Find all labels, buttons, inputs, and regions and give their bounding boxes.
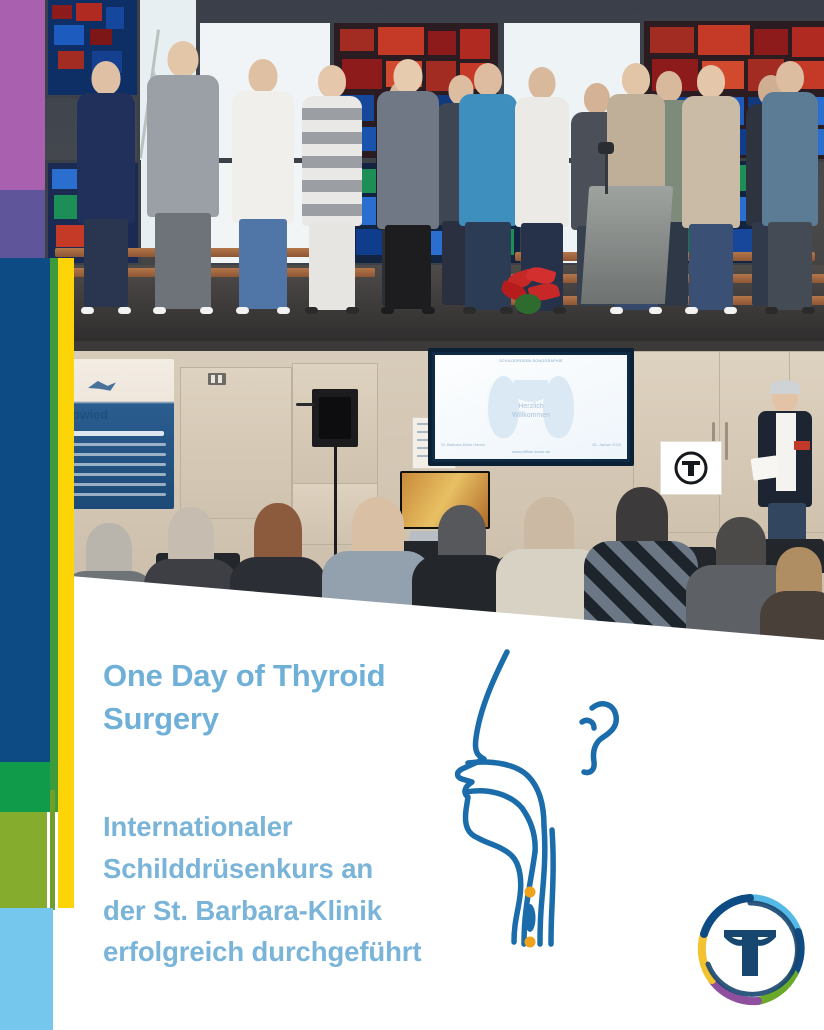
slide-footer-url: www.pfiffner-kurse.de <box>435 449 627 454</box>
banner-bulletlines <box>72 443 166 503</box>
slide-footer: St. Barbara-Klinik Hamm 25. Januar 2025 <box>441 442 621 447</box>
poinsettia-plant <box>497 268 571 320</box>
color-strip-green <box>50 258 58 812</box>
audience-member <box>584 473 698 641</box>
pa-speaker <box>312 389 358 447</box>
banner-tagline-bar <box>72 431 164 436</box>
subhead-line-3: der St. Barbara-Klinik <box>103 890 533 932</box>
person <box>145 41 221 311</box>
page-subheadline: Internationaler Schilddrüsenkurs an der … <box>103 806 533 973</box>
poster-page: owied SCHILDDRÜSEN-SONOGRAPHIE <box>0 0 824 1030</box>
thyroid-t-logo <box>686 886 814 1014</box>
headline-line-1: One Day of Thyroid <box>103 655 503 698</box>
color-band-purple-dark <box>0 190 45 258</box>
subhead-line-1: Internationaler <box>103 806 533 848</box>
exit-sign-icon <box>208 373 226 385</box>
person <box>75 61 137 311</box>
person <box>375 59 441 311</box>
brand-color-bar-stack <box>0 0 80 1030</box>
microphone-stand <box>605 150 608 194</box>
page-headline: One Day of Thyroid Surgery <box>103 655 503 741</box>
subhead-line-4: erfolgreich durchgeführt <box>103 931 533 973</box>
person <box>680 65 742 311</box>
logo-ring-segment-navy2 <box>704 898 750 934</box>
logo-t-mark <box>724 930 776 976</box>
sonowied-logo-icon <box>88 381 116 395</box>
color-band-olive <box>0 812 47 908</box>
group-photo <box>45 0 824 345</box>
headline-line-2: Surgery <box>103 698 503 741</box>
lectern <box>581 186 673 304</box>
color-strip-olive <box>50 790 55 910</box>
color-band-green <box>0 762 50 812</box>
slide-welcome-text: Herzlich Willkommen <box>435 403 627 421</box>
microphone-icon <box>598 142 614 154</box>
color-strip-yellow <box>58 258 74 908</box>
slide-header: SCHILDDRÜSEN-SONOGRAPHIE <box>435 359 627 363</box>
person <box>760 61 820 311</box>
subhead-line-2: Schilddrüsenkurs an <box>103 848 533 890</box>
sonowied-banner: owied <box>66 359 174 509</box>
projection-screen: SCHILDDRÜSEN-SONOGRAPHIE Herzlich Willko… <box>428 348 634 466</box>
color-band-purple-light <box>0 0 45 190</box>
slide-content: SCHILDDRÜSEN-SONOGRAPHIE Herzlich Willko… <box>435 355 627 459</box>
speaker-cable <box>296 403 314 406</box>
color-band-navy <box>0 258 50 762</box>
audience-member <box>760 541 824 641</box>
color-band-sky <box>0 908 53 1030</box>
person <box>300 65 364 311</box>
person <box>230 59 296 311</box>
